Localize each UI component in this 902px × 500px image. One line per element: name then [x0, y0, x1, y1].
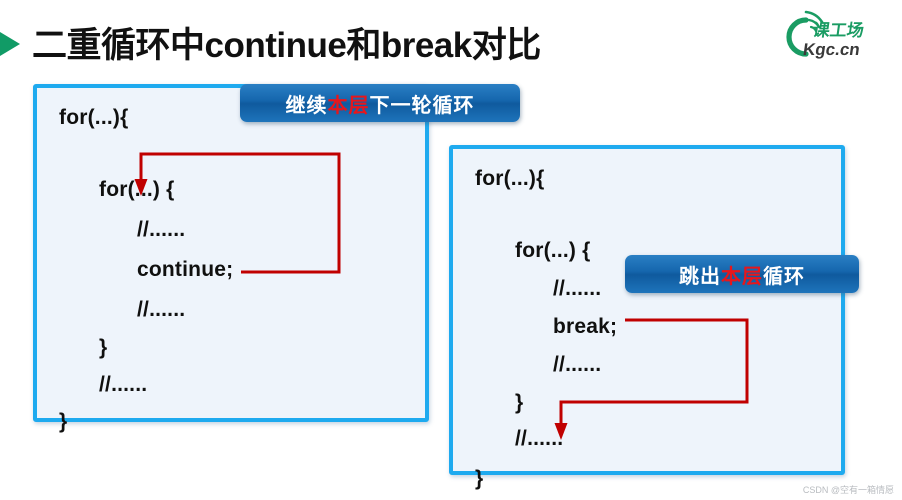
- continue-callout: 继续 本层 下一轮循环: [240, 84, 520, 122]
- code-line: continue;: [137, 258, 233, 282]
- code-line: //......: [99, 373, 147, 397]
- callout-suffix: 循环: [763, 260, 805, 289]
- code-line: }: [99, 336, 107, 360]
- svg-text:课工场: 课工场: [812, 21, 866, 40]
- code-line: //......: [515, 427, 563, 451]
- break-flow-arrow: [453, 149, 849, 479]
- kgc-logo-icon: 课工场 Kgc.cn: [776, 8, 888, 62]
- callout-prefix: 跳出: [679, 260, 721, 289]
- code-line: for(...) {: [515, 239, 591, 263]
- slide-canvas: 二重循环中continue和break对比 课工场 Kgc.cn for(...…: [0, 0, 902, 500]
- watermark: CSDN @空有一箱情愿: [803, 483, 894, 496]
- continue-code-panel: for(...){ for(...) { //...... continue; …: [33, 84, 429, 422]
- continue-flow-arrow: [37, 88, 433, 426]
- callout-highlight: 本层: [328, 89, 370, 118]
- code-line: //......: [137, 218, 185, 242]
- callout-highlight: 本层: [721, 260, 763, 289]
- page-title: 二重循环中continue和break对比: [32, 17, 541, 68]
- svg-text:Kgc.cn: Kgc.cn: [802, 40, 861, 59]
- callout-suffix: 下一轮循环: [370, 89, 475, 118]
- break-code-panel: for(...){ for(...) { //...... break; //.…: [449, 145, 845, 475]
- code-line: for(...){: [59, 106, 128, 130]
- code-line: }: [515, 391, 523, 415]
- code-line: for(...){: [475, 167, 544, 191]
- break-callout: 跳出 本层 循环: [625, 255, 859, 293]
- code-line: //......: [553, 277, 601, 301]
- code-line: //......: [553, 353, 601, 377]
- code-line: break;: [553, 315, 617, 339]
- triangle-right-icon: [0, 26, 20, 62]
- code-line: for(...) {: [99, 178, 175, 202]
- code-line: }: [59, 410, 67, 434]
- callout-prefix: 继续: [286, 89, 328, 118]
- code-line: //......: [137, 298, 185, 322]
- code-line: }: [475, 467, 483, 491]
